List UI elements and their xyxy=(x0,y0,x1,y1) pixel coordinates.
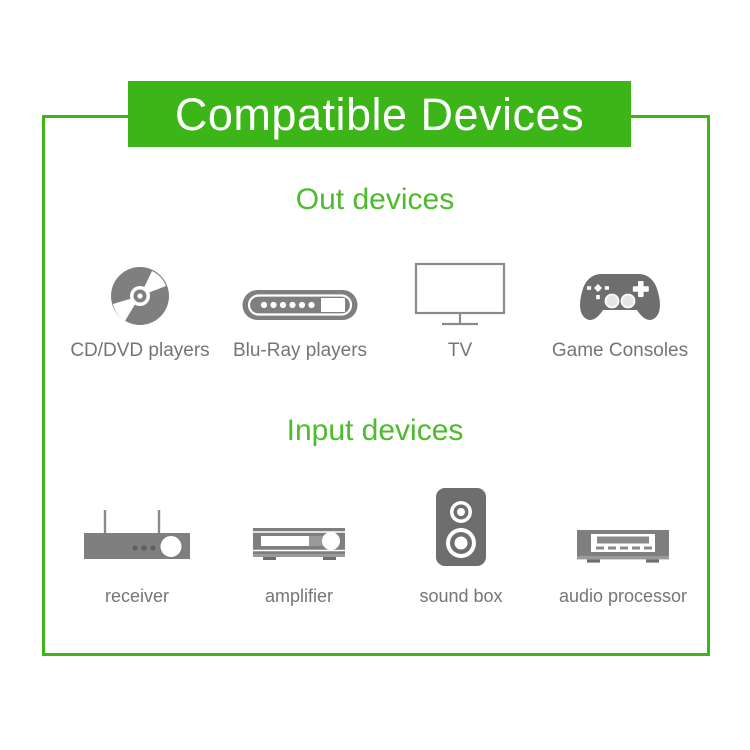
audio-processor-icon xyxy=(571,486,675,568)
compatible-devices-poster: Compatible Devices Out devices xyxy=(0,0,750,750)
device-item-blu-ray-players: Blu-Ray players xyxy=(220,248,380,362)
device-label: amplifier xyxy=(265,586,333,607)
device-item-amplifier: amplifier xyxy=(218,486,380,607)
cd-dvd-disc-icon xyxy=(108,248,172,328)
device-item-receiver: receiver xyxy=(56,486,218,607)
tv-monitor-icon xyxy=(414,248,506,328)
device-label: CD/DVD players xyxy=(70,340,209,362)
device-item-audio-processor: audio processor xyxy=(542,486,704,607)
page-title: Compatible Devices xyxy=(175,92,584,137)
section-heading-out-devices: Out devices xyxy=(0,183,750,217)
device-label: sound box xyxy=(419,586,502,607)
blu-ray-player-icon xyxy=(241,248,359,328)
receiver-icon xyxy=(79,486,195,568)
device-item-game-consoles: Game Consoles xyxy=(540,248,700,362)
device-item-cd-dvd-players: CD/DVD players xyxy=(60,248,220,362)
device-label: TV xyxy=(448,340,472,362)
out-devices-row: CD/DVD players Blu xyxy=(60,248,700,362)
device-item-sound-box: sound box xyxy=(380,486,542,607)
section-heading-input-devices: Input devices xyxy=(0,414,750,448)
device-label: Blu-Ray players xyxy=(233,340,367,362)
input-devices-row: receiver amplif xyxy=(56,486,704,607)
device-label: audio processor xyxy=(559,586,687,607)
device-label: receiver xyxy=(105,586,169,607)
title-banner: Compatible Devices xyxy=(128,81,631,147)
game-controller-icon xyxy=(574,248,666,328)
amplifier-icon xyxy=(247,486,351,568)
device-item-tv: TV xyxy=(380,248,540,362)
speaker-box-icon xyxy=(433,486,489,568)
device-label: Game Consoles xyxy=(552,340,688,362)
